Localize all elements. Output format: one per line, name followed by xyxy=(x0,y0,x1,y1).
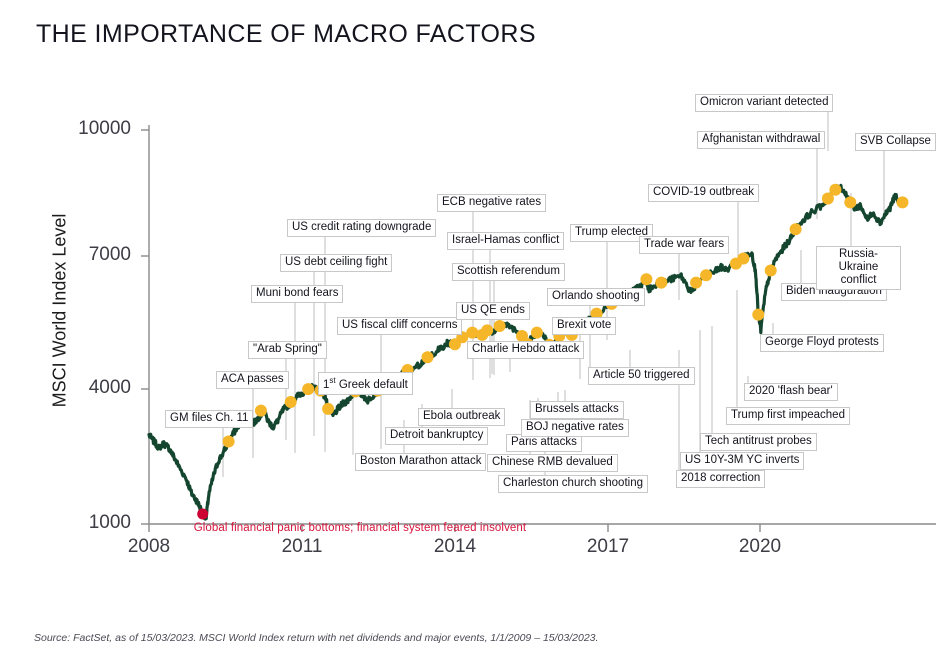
event-label-muni-bond[interactable]: Muni bond fears xyxy=(251,285,343,303)
event-label-tech-antitrust[interactable]: Tech antitrust probes xyxy=(700,433,817,451)
event-marker-dot[interactable] xyxy=(655,277,667,289)
y-tick-label: 10000 xyxy=(41,118,131,140)
event-label-israel-hamas[interactable]: Israel-Hamas conflict xyxy=(447,232,564,250)
event-label-trump-impeached[interactable]: Trump first impeached xyxy=(726,407,850,425)
x-tick-label: 2020 xyxy=(715,536,805,558)
event-label-arab-spring[interactable]: "Arab Spring" xyxy=(248,341,327,359)
y-tick-label: 1000 xyxy=(41,512,131,534)
event-label-greek-default[interactable]: 1st Greek default xyxy=(318,372,413,395)
event-label-brussels[interactable]: Brussels attacks xyxy=(530,401,624,419)
event-label-debt-ceiling[interactable]: US debt ceiling fight xyxy=(280,254,392,272)
panic-annotation-text: Global financial panic bottoms; financia… xyxy=(194,522,527,534)
event-marker-dot[interactable] xyxy=(752,309,764,321)
event-label-credit-downgrade[interactable]: US credit rating downgrade xyxy=(287,219,436,237)
event-marker-dot[interactable] xyxy=(829,184,841,196)
event-label-ecb-negative[interactable]: ECB negative rates xyxy=(437,194,546,212)
event-marker-dot[interactable] xyxy=(844,196,856,208)
macro-factors-chart: MSCI World Index Level 10000700040001000… xyxy=(0,0,940,600)
event-label-brexit[interactable]: Brexit vote xyxy=(552,317,616,335)
event-label-correction-2018[interactable]: 2018 correction xyxy=(676,470,765,488)
event-label-russia-ukraine[interactable]: Russia-Ukraine conflict xyxy=(816,246,901,290)
event-marker-dot[interactable] xyxy=(765,265,777,277)
event-label-yc-inverts[interactable]: US 10Y-3M YC inverts xyxy=(680,452,804,470)
event-marker-dot[interactable] xyxy=(422,351,434,363)
event-marker-dot[interactable] xyxy=(494,320,506,332)
source-footnote: Source: FactSet, as of 15/03/2023. MSCI … xyxy=(34,632,598,644)
event-label-us-qe-ends[interactable]: US QE ends xyxy=(456,302,530,320)
event-marker-dot[interactable] xyxy=(223,436,235,448)
event-label-trade-war[interactable]: Trade war fears xyxy=(639,236,729,254)
event-label-fiscal-cliff[interactable]: US fiscal cliff concerns xyxy=(337,317,462,335)
panic-marker-dot[interactable] xyxy=(197,509,208,520)
event-marker-dot[interactable] xyxy=(255,405,267,417)
event-label-article-50[interactable]: Article 50 triggered xyxy=(588,367,695,385)
event-label-chinese-rmb[interactable]: Chinese RMB devalued xyxy=(487,454,618,472)
event-label-svb[interactable]: SVB Collapse xyxy=(855,133,936,151)
event-marker-dot[interactable] xyxy=(481,324,493,336)
event-label-charleston[interactable]: Charleston church shooting xyxy=(498,475,648,493)
event-label-detroit[interactable]: Detroit bankruptcy xyxy=(385,427,488,445)
event-label-gm-files[interactable]: GM files Ch. 11 xyxy=(165,410,253,428)
y-tick-label: 4000 xyxy=(41,377,131,399)
event-label-scottish[interactable]: Scottish referendum xyxy=(452,263,565,281)
event-label-omicron[interactable]: Omicron variant detected xyxy=(695,94,833,112)
event-label-charlie-hebdo[interactable]: Charlie Hebdo attack xyxy=(467,341,584,359)
event-marker-dot[interactable] xyxy=(466,327,478,339)
event-label-ebola[interactable]: Ebola outbreak xyxy=(418,408,505,426)
event-marker-dot[interactable] xyxy=(690,277,702,289)
event-marker-dot[interactable] xyxy=(531,327,543,339)
event-marker-dot[interactable] xyxy=(700,269,712,281)
event-label-george-floyd[interactable]: George Floyd protests xyxy=(760,334,884,352)
event-label-afghanistan[interactable]: Afghanistan withdrawal xyxy=(697,131,825,149)
event-label-boston-marathon[interactable]: Boston Marathon attack xyxy=(355,453,486,471)
event-marker-dot[interactable] xyxy=(737,253,749,265)
y-tick-label: 7000 xyxy=(41,244,131,266)
event-marker-dot[interactable] xyxy=(285,396,297,408)
event-label-covid[interactable]: COVID-19 outbreak xyxy=(648,184,759,202)
y-axis-title: MSCI World Index Level xyxy=(50,161,71,461)
x-tick-label: 2008 xyxy=(104,536,194,558)
event-marker-dot[interactable] xyxy=(640,273,652,285)
event-marker-dot[interactable] xyxy=(322,403,334,415)
x-tick-label: 2014 xyxy=(410,536,500,558)
x-tick-label: 2011 xyxy=(257,536,347,558)
event-label-orlando[interactable]: Orlando shooting xyxy=(547,288,645,306)
event-label-boj-negative[interactable]: BOJ negative rates xyxy=(521,419,629,437)
x-tick-label: 2017 xyxy=(563,536,653,558)
event-label-aca-passes[interactable]: ACA passes xyxy=(216,371,289,389)
event-label-flash-bear[interactable]: 2020 'flash bear' xyxy=(744,383,838,401)
event-marker-dot[interactable] xyxy=(897,196,909,208)
event-marker-dot[interactable] xyxy=(302,383,314,395)
event-marker-dot[interactable] xyxy=(790,223,802,235)
